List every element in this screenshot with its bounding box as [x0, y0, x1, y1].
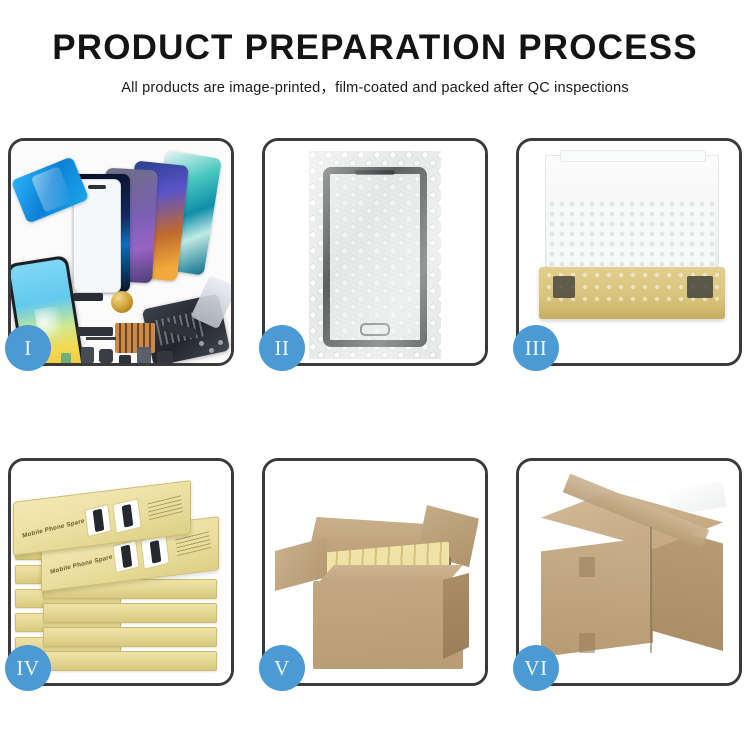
step-image-5 — [265, 461, 485, 683]
stacked-boxes-image: Mobile Phone Spare Parts Mobile Phone Sp… — [11, 461, 231, 683]
small-component-1 — [81, 347, 94, 363]
box-front-lip — [539, 305, 725, 319]
sealed-carton-front — [541, 537, 653, 657]
battery-component — [61, 353, 71, 363]
box-thumbnail-1b — [112, 498, 141, 534]
steps-grid: I II — [8, 138, 742, 686]
step-panel-5: V — [262, 458, 488, 686]
step-image-2 — [265, 141, 485, 363]
coil-component — [111, 291, 133, 313]
carton-handle-cut-2 — [579, 633, 595, 653]
kraft-box-tray — [539, 267, 725, 319]
step-badge-3: III — [513, 325, 559, 371]
carton-corner-edge — [650, 527, 652, 653]
open-carton-image — [265, 461, 485, 683]
step-panel-4: Mobile Phone Spare Parts Mobile Phone Sp… — [8, 458, 234, 686]
header: PRODUCT PREPARATION PROCESS All products… — [0, 0, 750, 97]
step-panel-1: I — [8, 138, 234, 366]
step-panel-3: III — [516, 138, 742, 366]
box-thumbnail-1a — [84, 504, 111, 537]
stack-box-r4 — [43, 627, 217, 647]
mailer-box-image — [519, 141, 739, 363]
step-panel-2: II — [262, 138, 488, 366]
step-badge-4: IV — [5, 645, 51, 691]
carton-handle-cut-1 — [579, 557, 595, 577]
small-component-3 — [119, 355, 131, 363]
step-image-4: Mobile Phone Spare Parts Mobile Phone Sp… — [11, 461, 231, 683]
sealed-carton-image — [519, 461, 739, 683]
stack-box-r3 — [43, 603, 217, 623]
small-component-4 — [137, 347, 151, 363]
page-subtitle: All products are image-printed，film-coat… — [0, 76, 750, 97]
step-image-3 — [519, 141, 739, 363]
carton-side-face — [443, 573, 469, 659]
step-panel-6: VI — [516, 458, 742, 686]
speaker-bar-component — [73, 293, 103, 301]
stack-box-r5 — [43, 651, 217, 671]
screws-group — [199, 339, 225, 357]
foam-padding — [547, 199, 715, 269]
packed-screen — [545, 271, 719, 303]
step-image-1 — [11, 141, 231, 363]
notch-icon — [88, 185, 106, 189]
bubble-wrap-sheet — [309, 151, 441, 359]
page-title: PRODUCT PREPARATION PROCESS — [0, 30, 750, 67]
step-badge-6: VI — [513, 645, 559, 691]
bubble-wrap-image — [265, 141, 485, 363]
box-thumbnail-2a — [112, 540, 139, 573]
carton-front-face — [313, 581, 463, 669]
plastic-sheen — [309, 151, 441, 359]
parts-collage-image — [11, 141, 231, 363]
step-badge-2: II — [259, 325, 305, 371]
small-component-2 — [99, 349, 113, 363]
step-image-6 — [519, 461, 739, 683]
step-badge-5: V — [259, 645, 305, 691]
flex-cable-1 — [77, 327, 113, 336]
step-badge-1: I — [5, 325, 51, 371]
small-component-5 — [157, 351, 173, 363]
product-preparation-infographic: PRODUCT PREPARATION PROCESS All products… — [0, 0, 750, 750]
box-spec-lines-1 — [147, 492, 183, 520]
